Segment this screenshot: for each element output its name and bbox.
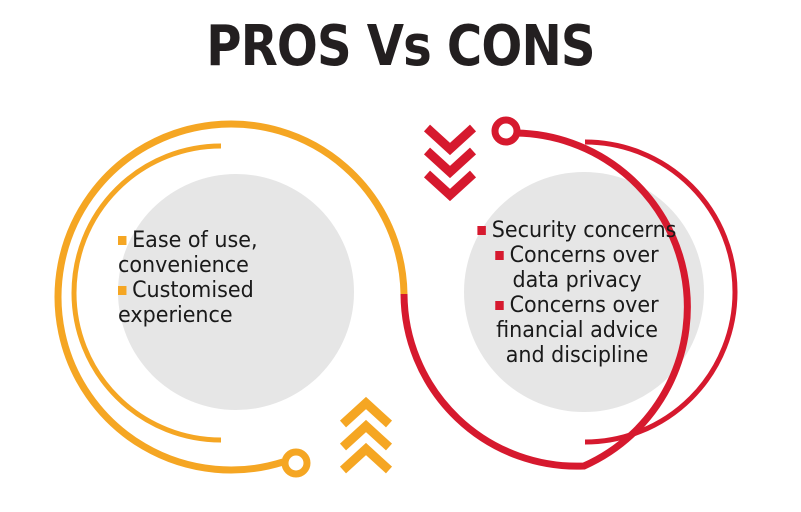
square-bullet-amber (118, 286, 126, 295)
cons-line-5: financial advice (496, 318, 658, 343)
cons-line-4: Concerns over (510, 293, 659, 318)
pros-line-2: convenience (118, 253, 249, 278)
cons-line-6: and discipline (506, 343, 649, 368)
infographic-canvas: PROS Vs CONS Ease of use, convenience Cu… (0, 0, 801, 512)
cons-line-1: Security concerns (492, 218, 677, 243)
list-item: Ease of use, (118, 228, 315, 253)
page-title: PROS Vs CONS (56, 14, 745, 79)
list-item-cont: convenience (118, 253, 315, 278)
list-item-cont: data privacy (468, 268, 686, 293)
square-bullet-red (495, 251, 503, 260)
pros-list: Ease of use, convenience Customised expe… (118, 228, 315, 328)
list-item: Security concerns (468, 218, 686, 243)
square-bullet-amber (118, 236, 126, 245)
square-bullet-red (478, 226, 486, 235)
cons-line-3: data privacy (513, 268, 642, 293)
list-item: Concerns over (468, 293, 686, 318)
pros-line-3: Customised (132, 278, 254, 303)
list-item: Concerns over (468, 243, 686, 268)
list-item-cont: experience (118, 303, 315, 328)
chevron-up-triple-amber (343, 403, 389, 470)
list-item: Customised (118, 278, 315, 303)
arc-endpoint-ring-red (495, 120, 517, 142)
pros-line-4: experience (118, 303, 233, 328)
cons-line-2: Concerns over (510, 243, 659, 268)
list-item-cont: and discipline (468, 343, 686, 368)
cons-list: Security concerns Concerns over data pri… (468, 218, 686, 368)
chevron-down-triple-red (427, 128, 473, 195)
arc-endpoint-ring-amber (285, 452, 307, 474)
pros-line-1: Ease of use, (132, 228, 258, 253)
square-bullet-red (495, 301, 503, 310)
list-item-cont: financial advice (468, 318, 686, 343)
